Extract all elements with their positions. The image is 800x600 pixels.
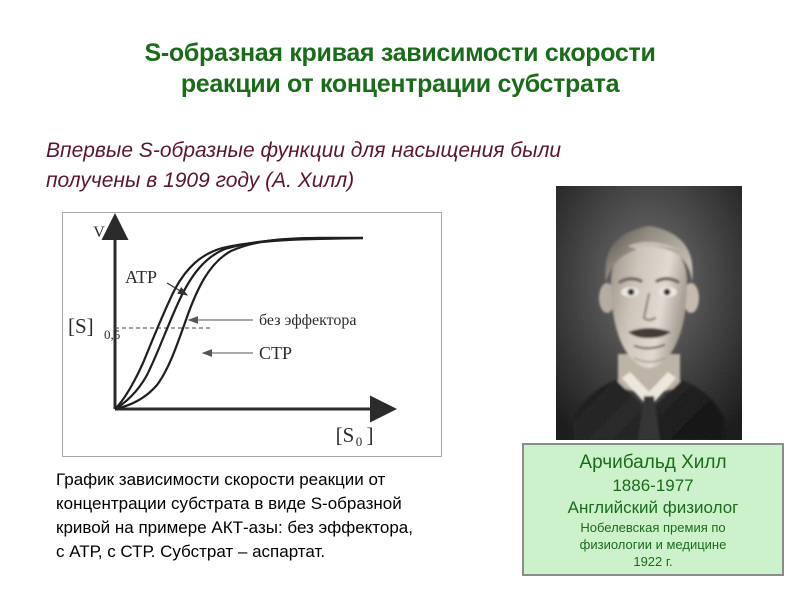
chart-caption-line-4: с АТР, с СТР. Субстрат – аспартат. (56, 540, 516, 564)
person-years: 1886-1977 (524, 475, 782, 497)
annotation-label-ctp: CTP (259, 343, 292, 363)
x-axis-label: [S (336, 423, 355, 447)
subtitle-line-1: Впервые S-образные функции для насыщения… (46, 136, 566, 166)
chart-caption: График зависимости скорости реакции от к… (56, 468, 516, 564)
subtitle-line-2: получены в 1909 году (А. Хилл) (46, 166, 566, 196)
person-name: Арчибальд Хилл (524, 451, 782, 475)
chart-caption-line-1: График зависимости скорости реакции от (56, 468, 516, 492)
person-prize-line-3: 1922 г. (524, 553, 782, 570)
person-prize-line-1: Нобелевская премия по (524, 519, 782, 536)
photo-grain-overlay (556, 186, 742, 440)
y-marker-label-subscript: 0,5 (104, 327, 120, 342)
subtitle: Впервые S-образные функции для насыщения… (46, 136, 566, 196)
page-title-line-2: реакции от концентрации субстрата (60, 69, 740, 100)
person-prize-line-2: физиологии и медицине (524, 536, 782, 553)
annotation-label-atp: ATP (125, 267, 157, 287)
person-info-box: Арчибальд Хилл 1886-1977 Английский физи… (522, 443, 784, 576)
annotation-label-no-effector: без эффектора (259, 312, 357, 329)
chart-caption-line-3: кривой на примере АКТ-азы: без эффектора… (56, 516, 516, 540)
person-role: Английский физиолог (524, 497, 782, 519)
page-title: S-образная кривая зависимости скорости р… (60, 38, 740, 100)
chart-caption-line-2: концентрации субстрата в виде S-образной (56, 492, 516, 516)
sigmoid-curve-chart: V [S 0 ] [S] 0,5 ATP без эффектора CTP (62, 212, 442, 457)
y-marker-label: [S] (68, 314, 94, 338)
x-axis-label-bracket: ] (367, 423, 374, 447)
y-axis-label: V (93, 224, 105, 241)
portrait-photo-archibald-hill (556, 186, 742, 440)
x-axis-label-subscript: 0 (356, 434, 363, 449)
page-title-line-1: S-образная кривая зависимости скорости (60, 38, 740, 69)
